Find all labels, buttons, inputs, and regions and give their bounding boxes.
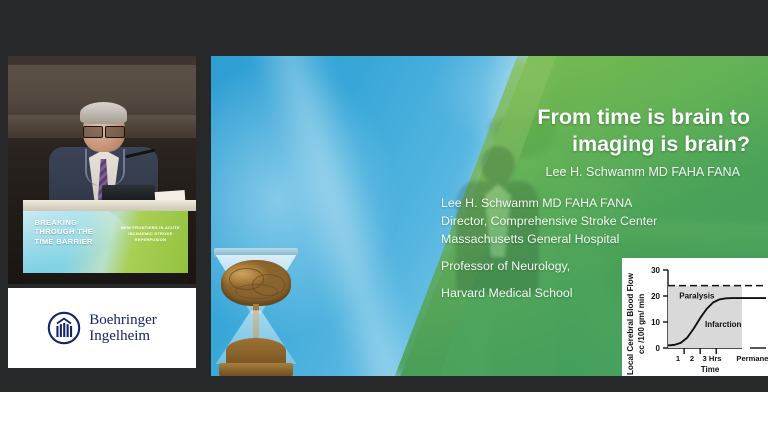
slide-title-line2: imaging is brain? [572, 132, 750, 156]
svg-text:2: 2 [690, 354, 694, 363]
speaker-webcam[interactable]: BREAKING THROUGH THE TIME BARRIER NEW FR… [8, 56, 196, 284]
bottom-letterbox-bar [0, 376, 768, 392]
svg-text:10: 10 [651, 318, 660, 327]
affiliation-spacer [441, 248, 741, 257]
brain-graphic [221, 260, 292, 306]
affiliation-line-1: Director, Comprehensive Stroke Center [441, 214, 657, 228]
eyeglasses-icon [83, 126, 124, 136]
svg-text:Infarction: Infarction [705, 320, 742, 329]
svg-text:3 Hrs: 3 Hrs [703, 354, 722, 363]
slide-presenter-byline: Lee H. Schwamm MD FAHA FANA [339, 164, 740, 180]
svg-text:cc /100 gm/ min: cc /100 gm/ min [637, 294, 646, 354]
brain-fold [235, 284, 278, 299]
svg-text:0: 0 [656, 344, 661, 353]
sponsor-name-line2: Ingelheim [89, 328, 150, 344]
banner-subhead: NEW FRONTIERS IN ACUTE ISCHAEMIC STROKE … [116, 225, 185, 243]
svg-text:20: 20 [651, 292, 660, 301]
affiliation-line-3: Professor of Neurology, [441, 259, 570, 273]
sponsor-logo-wordmark: Boehringer Ingelheim [89, 312, 156, 345]
sponsor-logo-card: Boehringer Ingelheim [8, 288, 196, 368]
sponsor-name-line1: Boehringer [89, 312, 156, 328]
slide-title-line1: From time is brain to [537, 105, 750, 129]
affiliation-line-0: Lee H. Schwamm MD FAHA FANA [441, 196, 632, 210]
svg-text:Time: Time [701, 365, 720, 374]
hourglass-sand-pile [226, 338, 286, 364]
podium-banner: BREAKING THROUGH THE TIME BARRIER NEW FR… [23, 211, 188, 273]
slide-title: From time is brain to imaging is brain? [349, 104, 750, 158]
inset-chart: Local Cerebral Blood Flow cc /100 gm/ mi… [622, 258, 768, 376]
hourglass-with-brain-icon [214, 248, 298, 376]
speaker-lanyard [85, 149, 125, 185]
affiliation-line-4: Harvard Medical School [441, 286, 573, 300]
affiliation-line-2: Massachusetts General Hospital [441, 232, 619, 246]
podium-base [23, 273, 188, 284]
svg-text:30: 30 [651, 266, 660, 275]
presentation-slide[interactable]: From time is brain to imaging is brain? … [211, 56, 768, 376]
svg-text:1: 1 [676, 354, 681, 363]
svg-text:Paralysis: Paralysis [679, 292, 715, 301]
svg-text:Local Cerebral Blood Flow: Local Cerebral Blood Flow [626, 272, 635, 375]
screenshot-root: BREAKING THROUGH THE TIME BARRIER NEW FR… [0, 0, 768, 432]
podium-surface [23, 200, 196, 211]
boehringer-ingelheim-logo-icon [47, 311, 81, 345]
banner-headline: BREAKING THROUGH THE TIME BARRIER [35, 218, 111, 246]
svg-text:Permanent: Permanent [736, 354, 768, 363]
hourglass-base [219, 363, 293, 376]
speaker-hair [80, 102, 127, 125]
